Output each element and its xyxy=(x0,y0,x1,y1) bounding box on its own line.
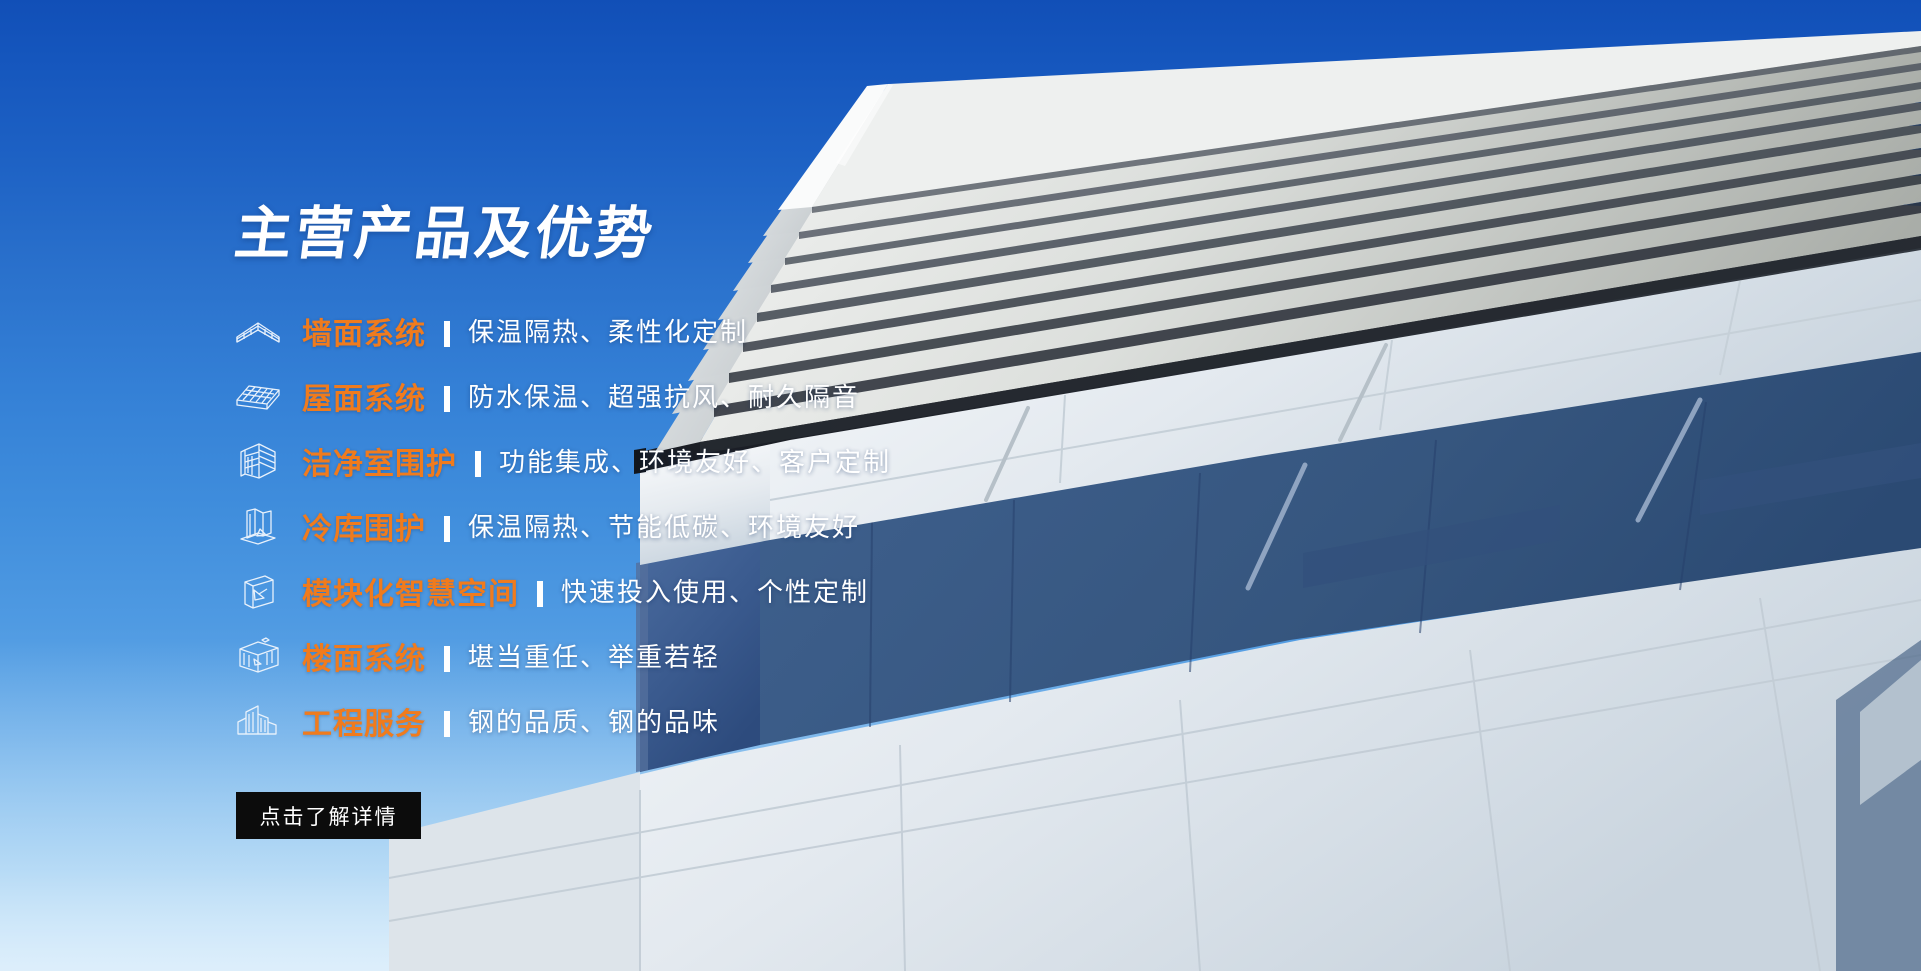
feature-description: 防水保温、超强抗风、耐久隔音 xyxy=(468,377,860,414)
list-item[interactable]: 工程服务 钢的品质、钢的品味 xyxy=(232,688,1132,753)
feature-title: 屋面系统 xyxy=(302,374,426,418)
feature-title: 墙面系统 xyxy=(302,309,426,353)
feature-separator xyxy=(475,451,481,477)
feature-description: 保温隔热、柔性化定制 xyxy=(468,312,748,349)
feature-description: 快速投入使用、个性定制 xyxy=(561,572,869,609)
cleanroom-icon xyxy=(232,438,284,484)
roof-system-icon xyxy=(232,373,284,419)
feature-title: 模块化智慧空间 xyxy=(302,569,519,613)
feature-title: 冷库围护 xyxy=(302,504,426,548)
modular-space-icon xyxy=(232,568,284,614)
list-item[interactable]: 屋面系统 防水保温、超强抗风、耐久隔音 xyxy=(232,363,1132,428)
feature-separator xyxy=(537,581,543,607)
list-item[interactable]: 洁净室围护 功能集成、环境友好、客户定制 xyxy=(232,428,1132,493)
feature-separator xyxy=(444,711,450,737)
learn-more-button[interactable]: 点击了解详情 xyxy=(236,792,421,839)
feature-list: 墙面系统 保温隔热、柔性化定制 屋面系统 防水保温、超强抗风、耐久隔音 xyxy=(232,298,1132,753)
engineering-service-icon xyxy=(232,698,284,744)
feature-title: 楼面系统 xyxy=(302,634,426,678)
wall-system-icon xyxy=(232,308,284,354)
list-item[interactable]: 模块化智慧空间 快速投入使用、个性定制 xyxy=(232,558,1132,623)
feature-description: 钢的品质、钢的品味 xyxy=(468,702,720,739)
product-advantage-banner: 主营产品及优势 墙面系统 保温隔热、柔性化定制 xyxy=(0,0,1921,971)
feature-separator xyxy=(444,321,450,347)
banner-content: 主营产品及优势 墙面系统 保温隔热、柔性化定制 xyxy=(232,0,1132,971)
list-item[interactable]: 冷库围护 保温隔热、节能低碳、环境友好 xyxy=(232,493,1132,558)
feature-description: 堪当重任、举重若轻 xyxy=(468,637,720,674)
feature-separator xyxy=(444,386,450,412)
list-item[interactable]: 楼面系统 堪当重任、举重若轻 xyxy=(232,623,1132,688)
feature-description: 保温隔热、节能低碳、环境友好 xyxy=(468,507,860,544)
feature-title: 工程服务 xyxy=(302,699,426,743)
page-title: 主营产品及优势 xyxy=(232,206,659,263)
floor-system-icon xyxy=(232,633,284,679)
feature-title: 洁净室围护 xyxy=(302,439,457,483)
feature-separator xyxy=(444,646,450,672)
feature-separator xyxy=(444,516,450,542)
feature-description: 功能集成、环境友好、客户定制 xyxy=(499,442,891,479)
coldstorage-icon xyxy=(232,503,284,549)
list-item[interactable]: 墙面系统 保温隔热、柔性化定制 xyxy=(232,298,1132,363)
